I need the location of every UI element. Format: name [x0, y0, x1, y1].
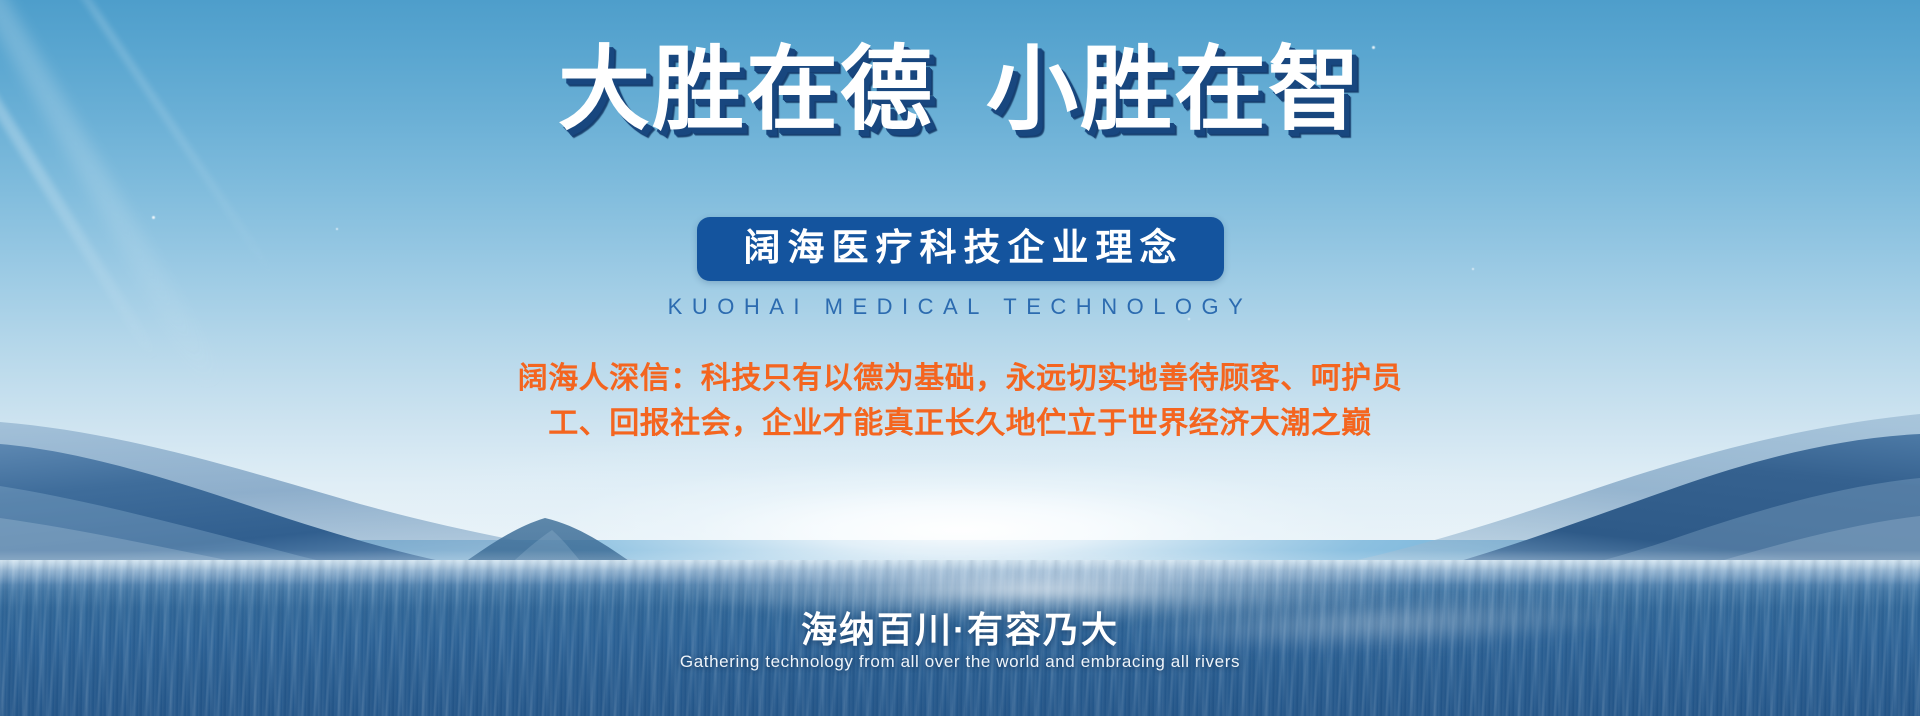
motto-chinese: 海纳百川·有容乃大 [0, 601, 1920, 653]
banner-content: 大胜在德小胜在智 阔海医疗科技企业理念 KUOHAI MEDICAL TECHN… [0, 0, 1920, 716]
motto-english: Gathering technology from all over the w… [0, 652, 1920, 672]
status-badge: 阔海医疗科技企业理念 [697, 217, 1224, 281]
kuohai-culture-banner: 大胜在德小胜在智 阔海医疗科技企业理念 KUOHAI MEDICAL TECHN… [0, 0, 1920, 716]
badge-container: 阔海医疗科技企业理念 [0, 217, 1920, 281]
philosophy-statement: 阔海人深信：科技只有以德为基础，永远切实地善待顾客、呵护员 工、回报社会，企业才… [0, 356, 1920, 446]
subtitle-english: KUOHAI MEDICAL TECHNOLOGY [0, 294, 1920, 320]
philosophy-line-2: 工、回报社会，企业才能真正长久地伫立于世界经济大潮之巅 [0, 401, 1920, 446]
philosophy-line-1: 阔海人深信：科技只有以德为基础，永远切实地善待顾客、呵护员 [0, 356, 1920, 401]
headline-part-2: 小胜在智 [986, 39, 1362, 141]
headline-part-1: 大胜在德 [558, 39, 934, 141]
page-title: 大胜在德小胜在智 [0, 42, 1920, 139]
